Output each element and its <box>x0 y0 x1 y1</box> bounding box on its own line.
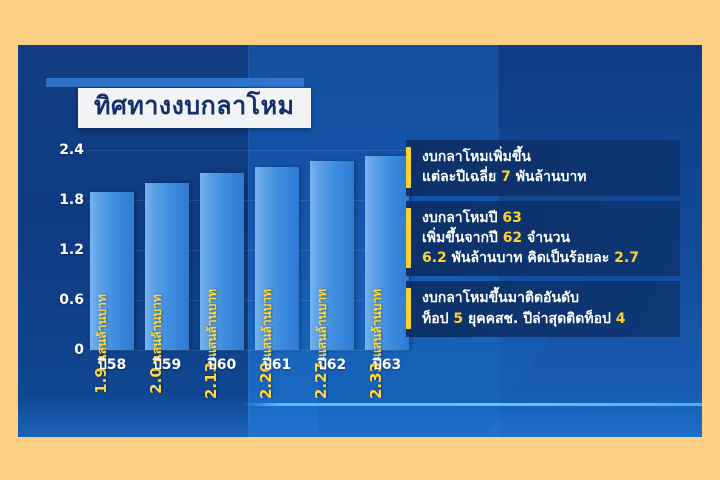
callout-line: งบกลาโหมปี 63 <box>422 208 672 228</box>
callout-item: งบกลาโหมขึ้นมาติดอันดับท็อป 5 ยุคคสช. ปี… <box>406 281 680 337</box>
callout-text: แต่ละปีเฉลี่ย <box>422 169 501 185</box>
bar-value-label: 2.27 แสนล้านบาท <box>312 289 332 399</box>
callout-text-block: งบกลาโหมปี 63เพิ่มขึ้นจากปี 62 จำนวน6.2 … <box>422 208 672 269</box>
callout-highlight-value: 2.7 <box>614 250 639 266</box>
bar-chart: 2.41.81.20.60 1.9 แสนล้านบาทปี582.0 แสนล… <box>42 150 412 385</box>
callout-line: แต่ละปีเฉลี่ย 7 พันล้านบาท <box>422 167 672 187</box>
bar-column[interactable]: 2.0 แสนล้านบาท <box>145 183 189 350</box>
callout-accent-bar <box>406 208 411 269</box>
bar-value-label: 1.9 แสนล้านบาท <box>92 294 112 394</box>
page-title: ทิศทางงบกลาโหม <box>94 92 295 121</box>
callout-text: งบกลาโหมเพิ่มขึ้น <box>422 149 531 165</box>
callout-line: 6.2 พันล้านบาท คิดเป็นร้อยละ 2.7 <box>422 248 672 268</box>
callout-highlight-value: 63 <box>502 210 521 226</box>
bar-column[interactable]: 2.13 แสนล้านบาท <box>200 173 244 351</box>
plot-area: 1.9 แสนล้านบาทปี582.0 แสนล้านบาทปี592.13… <box>90 150 410 350</box>
callout-text: งบกลาโหมปี <box>422 210 502 226</box>
callout-list: งบกลาโหมเพิ่มขึ้นแต่ละปีเฉลี่ย 7 พันล้าน… <box>406 140 680 342</box>
callout-line: เพิ่มขึ้นจากปี 62 จำนวน <box>422 228 672 248</box>
callout-highlight-value: 62 <box>503 230 522 246</box>
bar-value-label: 2.20 แสนล้านบาท <box>257 289 277 399</box>
bar-value-label: 2.33 แสนล้านบาท <box>367 289 387 399</box>
callout-text-block: งบกลาโหมขึ้นมาติดอันดับท็อป 5 ยุคคสช. ปี… <box>422 288 672 329</box>
bar-column[interactable]: 2.27 แสนล้านบาท <box>310 161 354 350</box>
callout-line: งบกลาโหมเพิ่มขึ้น <box>422 147 672 167</box>
callout-item: งบกลาโหมปี 63เพิ่มขึ้นจากปี 62 จำนวน6.2 … <box>406 201 680 277</box>
callout-text: พันล้านบาท คิดเป็นร้อยละ <box>447 250 614 266</box>
x-axis-label: ปี58 <box>90 354 134 376</box>
y-axis-tick: 0.6 <box>59 292 84 308</box>
callout-text-block: งบกลาโหมเพิ่มขึ้นแต่ละปีเฉลี่ย 7 พันล้าน… <box>422 147 672 188</box>
infographic-frame: ทิศทางงบกลาโหม 2.41.81.20.60 1.9 แสนล้าน… <box>0 0 720 480</box>
bar-column[interactable]: 2.33 แสนล้านบาท <box>365 156 409 350</box>
bar-column[interactable]: 1.9 แสนล้านบาท <box>90 192 134 350</box>
callout-text: งบกลาโหมขึ้นมาติดอันดับ <box>422 290 579 306</box>
callout-highlight-value: 7 <box>501 169 511 185</box>
infographic-panel: ทิศทางงบกลาโหม 2.41.81.20.60 1.9 แสนล้าน… <box>18 45 702 437</box>
y-axis-tick: 1.2 <box>59 242 84 258</box>
callout-highlight-value: 5 <box>453 311 463 327</box>
background-bottom-glow <box>18 395 702 437</box>
y-axis-tick: 2.4 <box>59 142 84 158</box>
x-axis-label: ปี63 <box>365 354 409 376</box>
background-accent-line <box>243 403 702 406</box>
y-axis: 2.41.81.20.60 <box>42 150 84 350</box>
callout-text: จำนวน <box>522 230 570 246</box>
title-accent-bar <box>46 78 304 87</box>
callout-text: ยุคคสช. ปีล่าสุดติดท็อป <box>463 311 616 327</box>
callout-line: งบกลาโหมขึ้นมาติดอันดับ <box>422 288 672 308</box>
callout-text: เพิ่มขึ้นจากปี <box>422 230 503 246</box>
bar-value-label: 2.13 แสนล้านบาท <box>202 289 222 399</box>
callout-accent-bar <box>406 147 411 188</box>
callout-highlight-value: 4 <box>616 311 626 327</box>
gridline <box>88 350 406 351</box>
x-axis-label: ปี59 <box>145 354 189 376</box>
bar-column[interactable]: 2.20 แสนล้านบาท <box>255 167 299 350</box>
callout-accent-bar <box>406 288 411 329</box>
callout-item: งบกลาโหมเพิ่มขึ้นแต่ละปีเฉลี่ย 7 พันล้าน… <box>406 140 680 196</box>
y-axis-tick: 1.8 <box>59 192 84 208</box>
callout-line: ท็อป 5 ยุคคสช. ปีล่าสุดติดท็อป 4 <box>422 309 672 329</box>
callout-text: พันล้านบาท <box>511 169 587 185</box>
title-box: ทิศทางงบกลาโหม <box>78 88 311 128</box>
callout-highlight-value: 6.2 <box>422 250 447 266</box>
x-axis-label: ปี61 <box>255 354 299 376</box>
y-axis-tick: 0 <box>74 342 84 358</box>
bar-value-label: 2.0 แสนล้านบาท <box>147 294 167 394</box>
x-axis-label: ปี60 <box>200 354 244 376</box>
x-axis-label: ปี62 <box>310 354 354 376</box>
callout-text: ท็อป <box>422 311 453 327</box>
